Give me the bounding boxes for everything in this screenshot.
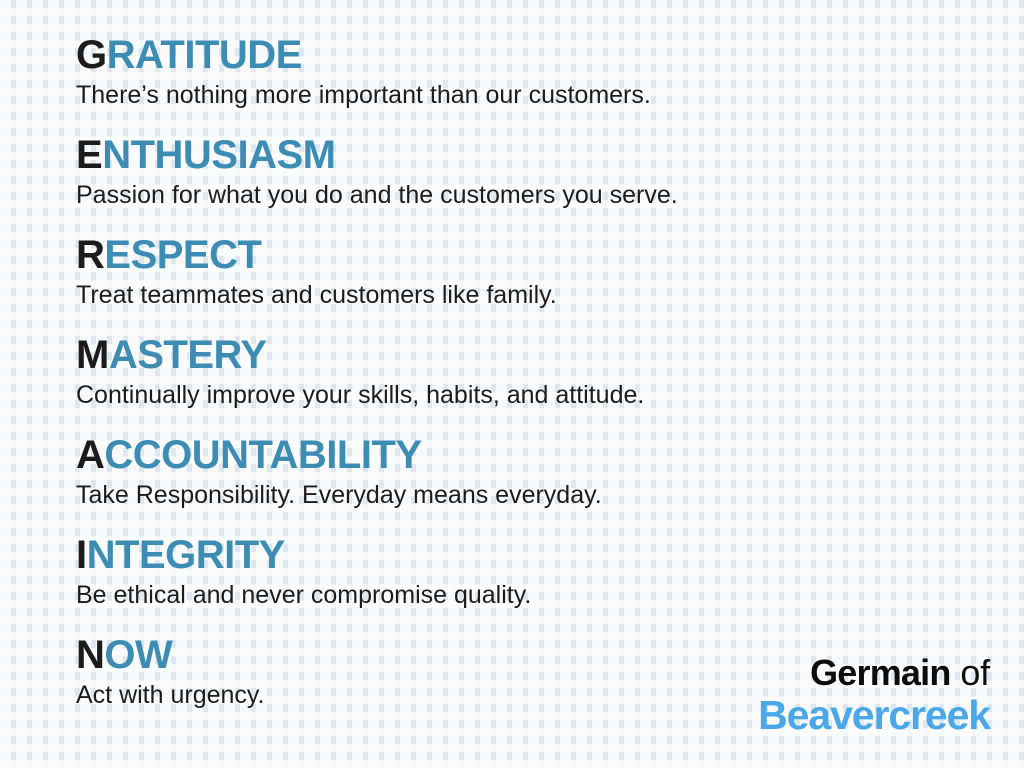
brand-logo: Germain of Beavercreek	[758, 655, 990, 736]
value-heading: MASTERY	[76, 334, 976, 376]
value-heading-initial: I	[76, 533, 87, 577]
value-description: Continually improve your skills, habits,…	[76, 380, 976, 411]
value-heading-rest: ESPECT	[104, 233, 261, 277]
value-heading-initial: R	[76, 233, 104, 277]
core-values-list: GRATITUDEThere’s nothing more important …	[76, 34, 976, 734]
value-block: INTEGRITYBe ethical and never compromise…	[76, 534, 976, 634]
value-description: Be ethical and never compromise quality.	[76, 580, 976, 611]
value-heading-initial: M	[76, 333, 109, 377]
value-heading-initial: E	[76, 133, 102, 177]
value-heading: ACCOUNTABILITY	[76, 434, 976, 476]
value-description: Treat teammates and customers like famil…	[76, 280, 976, 311]
value-heading-rest: OW	[104, 633, 172, 677]
value-heading: INTEGRITY	[76, 534, 976, 576]
value-description: Take Responsibility. Everyday means ever…	[76, 480, 976, 511]
value-heading-rest: ASTERY	[109, 333, 267, 377]
value-heading-rest: NTHUSIASM	[102, 133, 335, 177]
brand-logo-connector: of	[951, 652, 990, 693]
value-heading-initial: G	[76, 33, 107, 77]
values-slide: GRATITUDEThere’s nothing more important …	[0, 0, 1024, 768]
value-heading: GRATITUDE	[76, 34, 976, 76]
value-heading: RESPECT	[76, 234, 976, 276]
value-heading-rest: NTEGRITY	[87, 533, 285, 577]
value-block: MASTERYContinually improve your skills, …	[76, 334, 976, 434]
value-heading-initial: N	[76, 633, 104, 677]
value-description: There’s nothing more important than our …	[76, 80, 976, 111]
value-heading-rest: RATITUDE	[107, 33, 302, 77]
value-heading: ENTHUSIASM	[76, 134, 976, 176]
value-block: ACCOUNTABILITYTake Responsibility. Every…	[76, 434, 976, 534]
brand-logo-name: Germain	[810, 652, 950, 693]
value-block: RESPECTTreat teammates and customers lik…	[76, 234, 976, 334]
brand-logo-location: Beavercreek	[758, 695, 990, 736]
value-block: GRATITUDEThere’s nothing more important …	[76, 34, 976, 134]
value-heading-initial: A	[76, 433, 104, 477]
value-heading-rest: CCOUNTABILITY	[104, 433, 421, 477]
brand-logo-line-primary: Germain of	[758, 655, 990, 691]
value-description: Passion for what you do and the customer…	[76, 180, 976, 211]
value-block: ENTHUSIASMPassion for what you do and th…	[76, 134, 976, 234]
